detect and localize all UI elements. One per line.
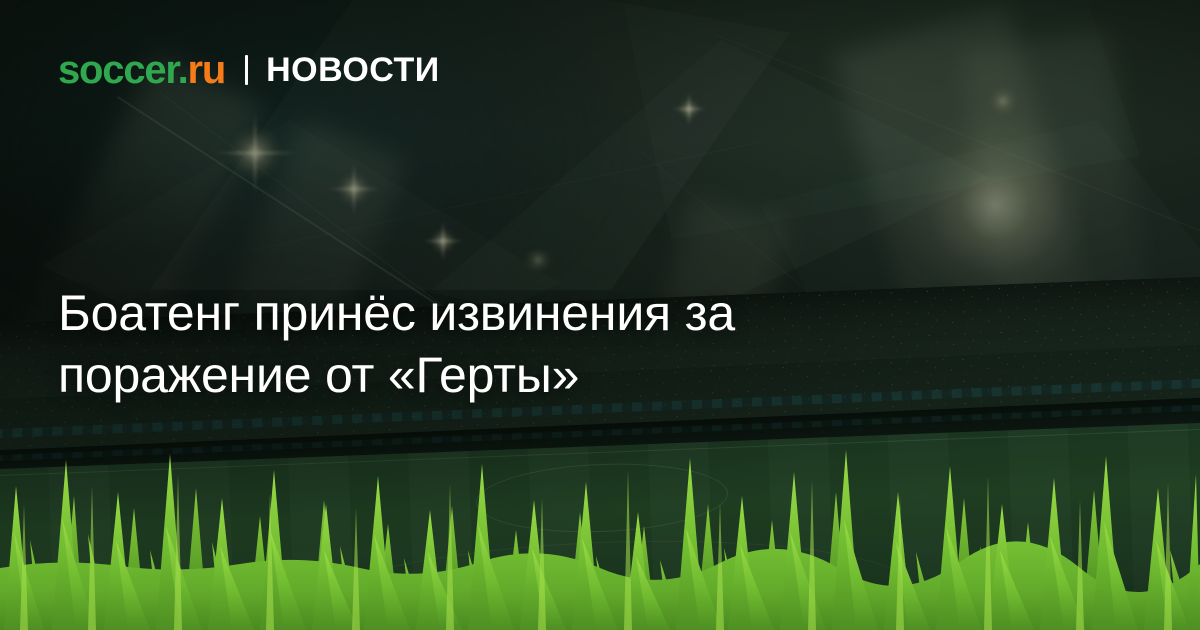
logo-word-ru: ru — [188, 48, 226, 92]
article-headline: Боатенг принёс извинения за поражение от… — [58, 282, 938, 406]
soccer-ru-logo[interactable]: soccer.ru — [58, 50, 225, 90]
logo-dot: . — [178, 48, 188, 92]
site-header: soccer.ru НОВОСТИ — [58, 50, 440, 90]
header-separator — [245, 55, 248, 85]
logo-word-soccer: soccer — [58, 48, 178, 92]
news-share-card: soccer.ru НОВОСТИ Боатенг принёс извинен… — [0, 0, 1200, 630]
section-label-novosti[interactable]: НОВОСТИ — [266, 53, 440, 87]
